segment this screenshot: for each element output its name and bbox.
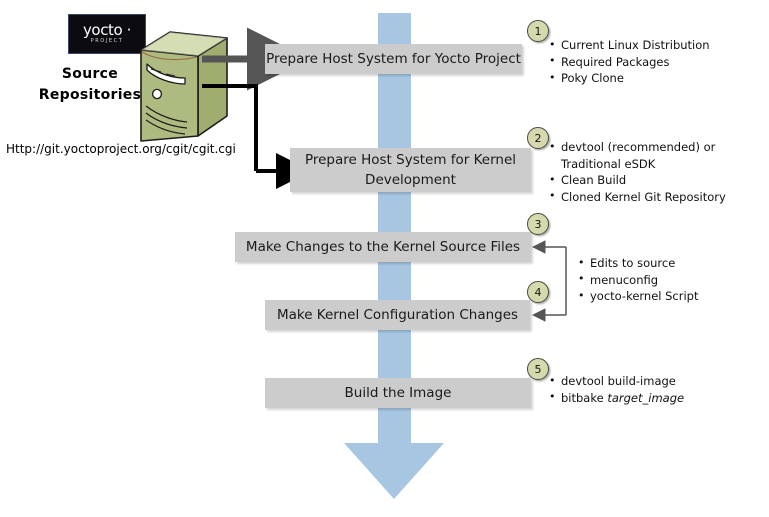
flow-arrowhead-icon	[344, 443, 444, 499]
step-box-make-kernel-config-changes[interactable]: Make Kernel Configuration Changes	[265, 300, 530, 330]
step-badge-2: 2	[527, 127, 549, 149]
list-item: bitbake target_image	[549, 390, 749, 407]
list-item: Cloned Kernel Git Repository	[549, 189, 749, 206]
source-label-line2: Repositories	[30, 85, 150, 106]
step-badge-3: 3	[527, 213, 549, 235]
list-item: Clean Build	[549, 172, 749, 189]
list-item: yocto-kernel Script	[578, 288, 748, 305]
list-item: devtool (recommended) or Traditional eSD…	[549, 139, 749, 172]
bitbake-target-variable: target_image	[607, 391, 684, 405]
list-item: Edits to source	[578, 255, 748, 272]
list-item: Required Packages	[549, 54, 754, 71]
step1-bullet-list: Current Linux Distribution Required Pack…	[549, 37, 754, 87]
server-tower-icon	[135, 28, 230, 145]
list-item: Poky Clone	[549, 70, 754, 87]
step2-bullet-list: devtool (recommended) or Traditional eSD…	[549, 139, 749, 205]
step-badge-4: 4	[527, 281, 549, 303]
step-box-prepare-host-kernel[interactable]: Prepare Host System for Kernel Developme…	[290, 148, 531, 192]
logo-subtitle: PROJECT	[91, 38, 124, 45]
workflow-diagram: yocto · PROJECT Source Repositories Http…	[0, 0, 769, 517]
step-box-prepare-host-yocto[interactable]: Prepare Host System for Yocto Project	[265, 44, 522, 74]
step-badge-5: 5	[527, 358, 549, 380]
step-box-make-kernel-source-changes[interactable]: Make Changes to the Kernel Source Files	[235, 232, 531, 262]
bitbake-command: bitbake	[561, 391, 607, 405]
list-item: devtool build-image	[549, 373, 749, 390]
step-box-build-image[interactable]: Build the Image	[265, 378, 531, 408]
list-item: Current Linux Distribution	[549, 37, 754, 54]
step-badge-1: 1	[527, 20, 549, 42]
source-repositories-label: Source Repositories	[30, 64, 150, 106]
list-item: menuconfig	[578, 272, 748, 289]
step5-bullet-list: devtool build-image bitbake target_image	[549, 373, 749, 406]
logo-wordmark: yocto ·	[83, 23, 131, 37]
steps-3-4-bullet-list: Edits to source menuconfig yocto-kernel …	[578, 255, 748, 305]
source-label-line1: Source	[30, 64, 150, 85]
